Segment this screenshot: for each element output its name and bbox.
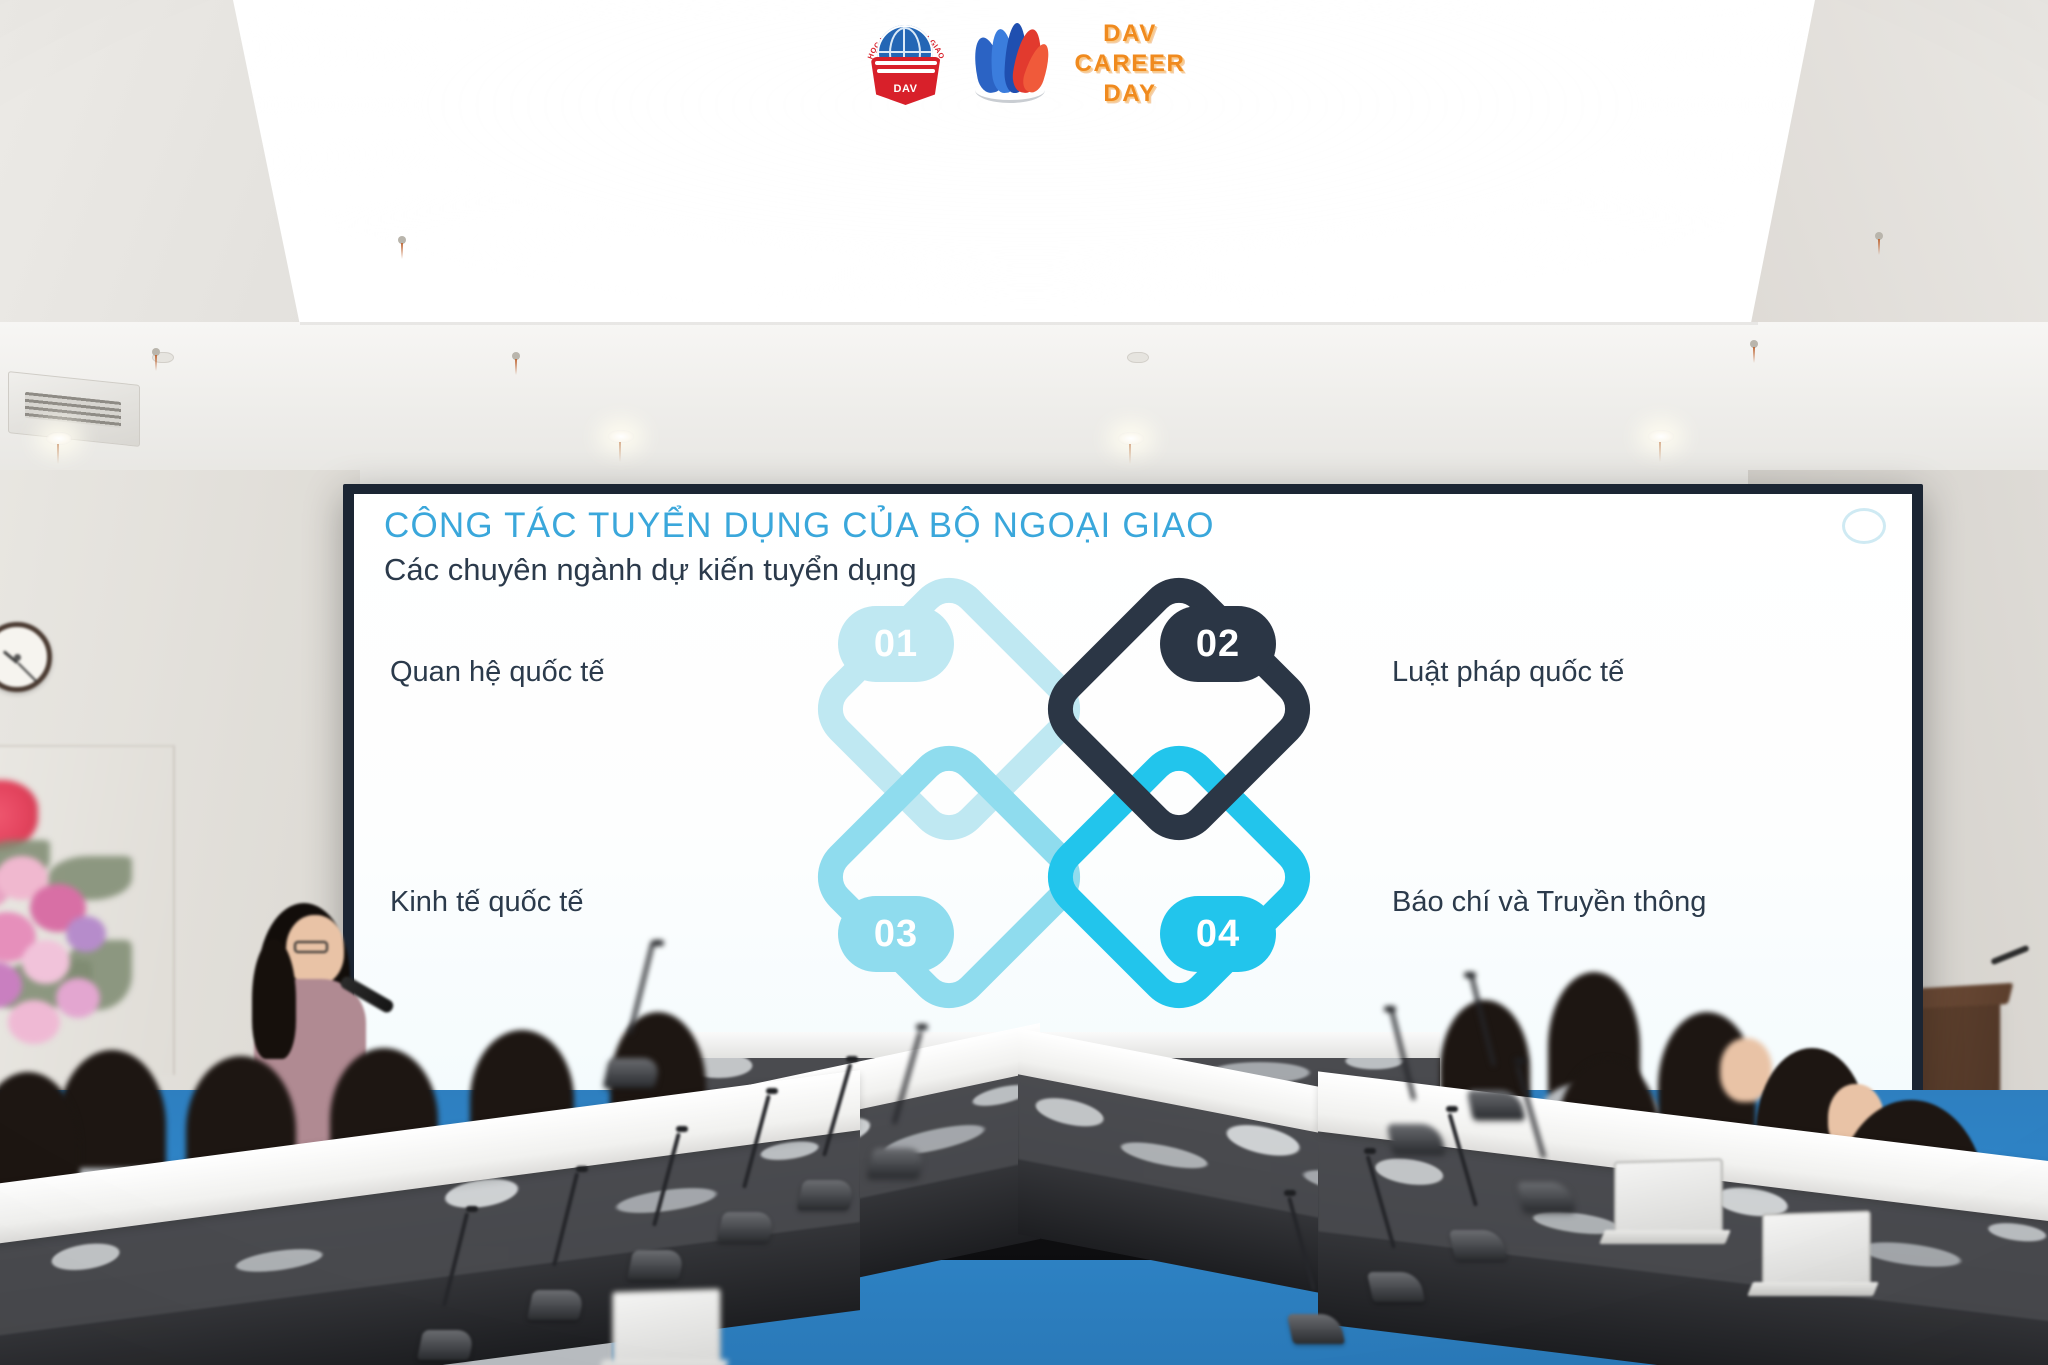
dav-abbr-label: DAV [871, 83, 941, 95]
screenshot-root: CÔNG TÁC TUYỂN DỤNG CỦA BỘ NGOẠI GIAO Cá… [0, 0, 2048, 1365]
slide-item-label-01: Quan hệ quốc tế [390, 656, 604, 689]
projection-screen: CÔNG TÁC TUYỂN DỤNG CỦA BỘ NGOẠI GIAO Cá… [354, 494, 1912, 1100]
wordmark-line-1: DAV [1103, 20, 1157, 48]
number-badge-04: 04 [1160, 896, 1276, 972]
sprinkler-icon [512, 352, 520, 360]
ceiling-downlight [1648, 430, 1674, 443]
number-badge-03: 03 [838, 896, 954, 972]
header-logo-bar: HỌC VIỆN NGOẠI GIAO DAV DAV CAREER DAY [0, 0, 2048, 128]
ceiling-downlight [608, 430, 634, 443]
slide-title: CÔNG TÁC TUYỂN DỤNG CỦA BỘ NGOẠI GIAO [384, 506, 1215, 546]
interlocking-diamonds-diagram: 01 03 04 02 [828, 586, 1388, 1006]
ceiling-downlight [1118, 432, 1144, 445]
circle-outline-watermark-icon [1842, 508, 1886, 544]
wordmark-line-3: DAY [1103, 80, 1156, 108]
career-day-wordmark: DAV CAREER DAY [1075, 20, 1186, 108]
sprinkler-icon [152, 348, 160, 356]
dav-institution-logo-icon: HỌC VIỆN NGOẠI GIAO DAV [863, 21, 949, 107]
sprinkler-icon [1750, 340, 1758, 348]
wordmark-line-2: CAREER [1075, 50, 1186, 78]
sprinkler-icon [1875, 232, 1883, 240]
slide-item-label-04: Báo chí và Truyền thông [1392, 886, 1706, 919]
smoke-detector-icon [1127, 352, 1149, 363]
ceiling-downlight [46, 432, 72, 445]
slide-item-label-02: Luật pháp quốc tế [1392, 656, 1624, 689]
flower-arrangement [0, 820, 145, 1070]
diamond-shape-02 [1031, 561, 1328, 858]
career-day-flame-logo-icon [971, 21, 1049, 107]
number-badge-02: 02 [1160, 606, 1276, 682]
slide-subtitle: Các chuyên ngành dự kiến tuyển dụng [384, 552, 917, 588]
number-badge-01: 01 [838, 606, 954, 682]
sprinkler-icon [398, 236, 406, 244]
